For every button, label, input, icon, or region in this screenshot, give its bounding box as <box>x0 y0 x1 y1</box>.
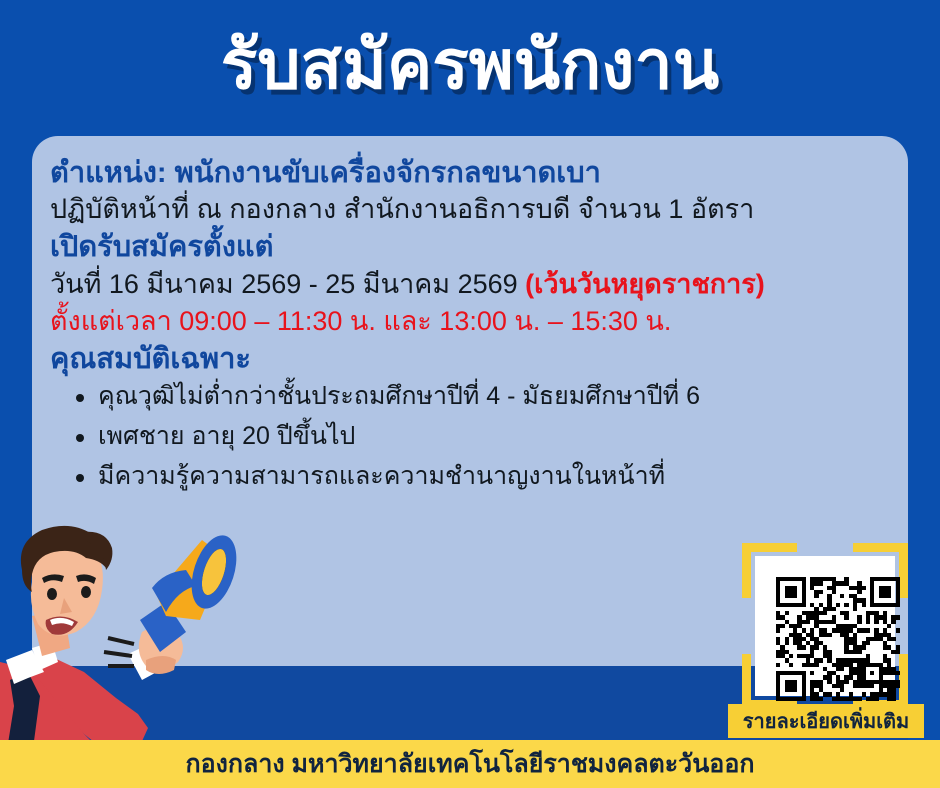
duty-line: ปฏิบัติหน้าที่ ณ กองกลาง สำนักงานอธิการบ… <box>50 193 890 226</box>
list-item: เพศชาย อายุ 20 ปีขึ้นไป <box>50 421 890 451</box>
poster-title: รับสมัครพนักงาน <box>221 31 719 99</box>
position-line: ตำแหน่ง: พนักงานขับเครื่องจักรกลขนาดเบา <box>50 156 890 191</box>
qr-code-block[interactable] <box>742 543 908 709</box>
qualifications-heading: คุณสมบัติเฉพาะ <box>50 342 890 377</box>
qr-label-text: รายละเอียดเพิ่มเติม <box>743 705 909 737</box>
sound-line-2 <box>104 652 132 656</box>
qr-code-icon[interactable] <box>776 577 900 701</box>
footer-organization: กองกลาง มหาวิทยาลัยเทคโนโลยีราชมงคลตะวัน… <box>186 744 755 784</box>
eye-left <box>47 588 57 600</box>
sound-line-1 <box>108 638 134 644</box>
list-item: มีความรู้ความสามารถและความชำนาญงานในหน้า… <box>50 461 890 491</box>
recruitment-poster: รับสมัครพนักงาน ตำแหน่ง: พนักงานขับเครื่… <box>0 0 940 788</box>
qualifications-list: คุณวุฒิไม่ต่ำกว่าชั้นประถมศึกษาปีที่ 4 -… <box>50 381 890 491</box>
footer-bar: กองกลาง มหาวิทยาลัยเทคโนโลยีราชมงคลตะวัน… <box>0 740 940 788</box>
fingers <box>146 656 176 674</box>
date-range-line: วันที่ 16 มีนาคม 2569 - 25 มีนาคม 2569 (… <box>50 268 890 301</box>
eye-right <box>81 586 91 598</box>
qr-code-background <box>755 556 895 696</box>
time-line: ตั้งแต่เวลา 09:00 – 11:30 น. และ 13:00 น… <box>50 305 890 338</box>
open-heading: เปิดรับสมัครตั้งแต่ <box>50 230 890 265</box>
date-note-text: (เว้นวันหยุดราชการ) <box>525 269 765 299</box>
list-item: คุณวุฒิไม่ต่ำกว่าชั้นประถมศึกษาปีที่ 4 -… <box>50 381 890 411</box>
content-panel-body: ตำแหน่ง: พนักงานขับเครื่องจักรกลขนาดเบา … <box>50 156 890 501</box>
qr-label-badge[interactable]: รายละเอียดเพิ่มเติม <box>728 704 924 738</box>
poster-title-area: รับสมัครพนักงาน <box>0 0 940 130</box>
date-range-text: วันที่ 16 มีนาคม 2569 - 25 มีนาคม 2569 <box>50 269 525 299</box>
